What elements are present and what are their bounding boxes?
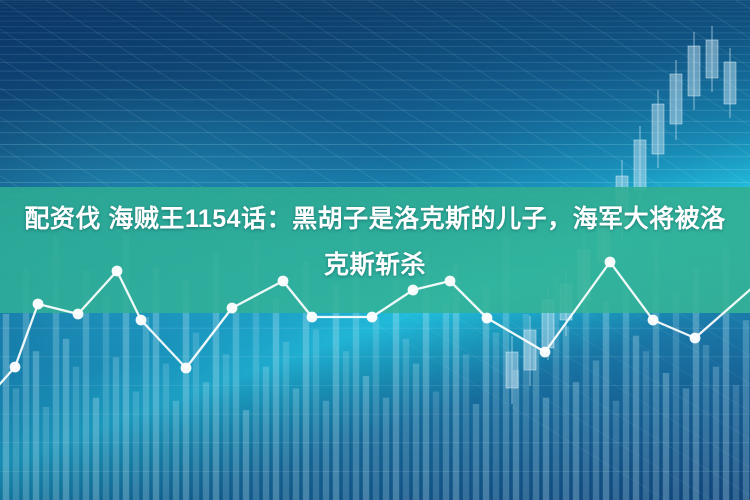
headline-title: 配资伐 海贼王1154话：黑胡子是洛克斯的儿子，海军大将被洛克斯斩杀 <box>0 196 750 288</box>
banner-image: 配资伐 海贼王1154话：黑胡子是洛克斯的儿子，海军大将被洛克斯斩杀 <box>0 0 750 500</box>
